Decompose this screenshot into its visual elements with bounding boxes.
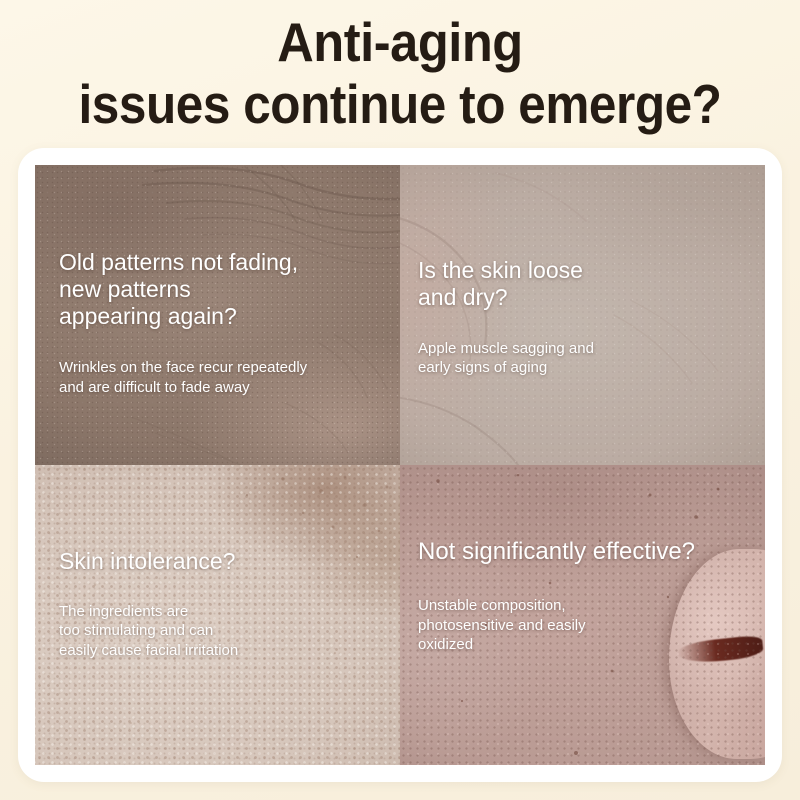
page-title-line-1: Anti-aging	[69, 14, 731, 70]
panel-not-effective-text: Not significantly effective? Unstable co…	[400, 538, 765, 654]
panel-skin-loose-dry-text: Is the skin loose and dry? Apple muscle …	[400, 257, 765, 378]
panel-old-patterns: Old patterns not fading, new patterns ap…	[35, 165, 400, 465]
panel-skin-intolerance: Skin intolerance? The ingredients are to…	[35, 465, 400, 765]
panel-skin-intolerance-heading: Skin intolerance?	[59, 548, 380, 575]
panel-skin-loose-dry-subtext: Apple muscle sagging and early signs of …	[418, 339, 745, 377]
panel-old-patterns-heading: Old patterns not fading, new patterns ap…	[59, 249, 380, 330]
page-header: Anti-aging issues continue to emerge?	[0, 0, 800, 148]
quadrant-grid: Old patterns not fading, new patterns ap…	[35, 165, 765, 765]
panel-old-patterns-text: Old patterns not fading, new patterns ap…	[35, 249, 400, 397]
panel-skin-intolerance-subtext: The ingredients are too stimulating and …	[59, 602, 380, 660]
panel-not-effective-subtext: Unstable composition, photosensitive and…	[418, 596, 745, 654]
panel-skin-intolerance-text: Skin intolerance? The ingredients are to…	[35, 548, 400, 660]
panel-old-patterns-subtext: Wrinkles on the face recur repeatedly an…	[59, 358, 380, 396]
page-title-line-2: issues continue to emerge?	[76, 76, 724, 132]
panel-not-effective-heading: Not significantly effective?	[418, 538, 745, 566]
panel-skin-loose-dry-heading: Is the skin loose and dry?	[418, 257, 745, 311]
panel-skin-loose-dry: Is the skin loose and dry? Apple muscle …	[400, 165, 765, 465]
image-card: Old patterns not fading, new patterns ap…	[18, 148, 782, 782]
panel-not-effective: Not significantly effective? Unstable co…	[400, 465, 765, 765]
